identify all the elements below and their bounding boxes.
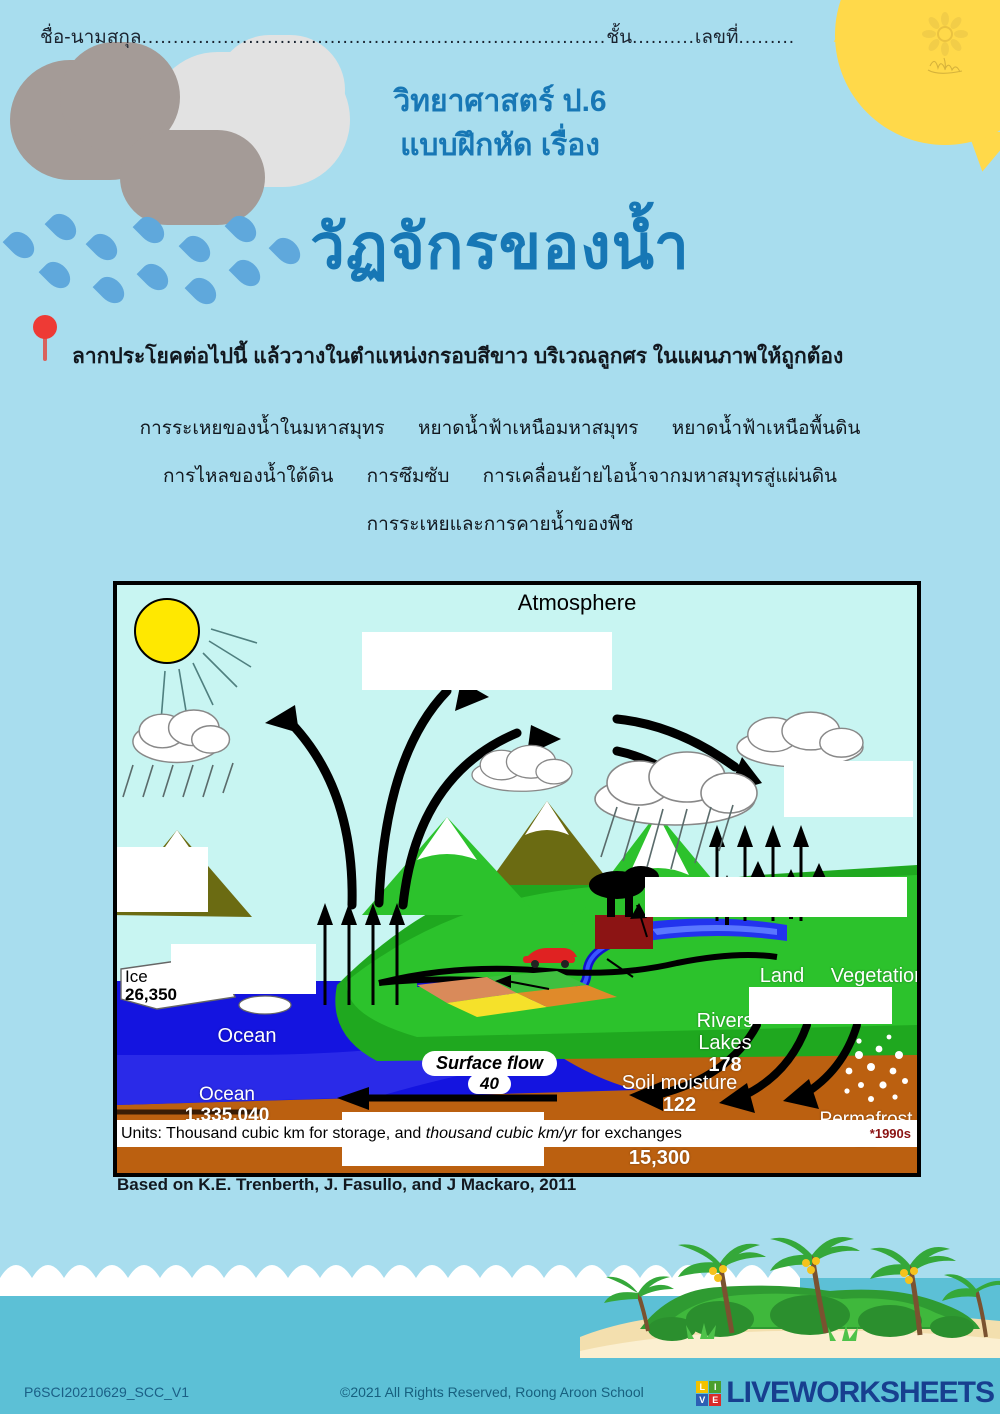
logo-tile-i: I (709, 1381, 721, 1393)
name-label: ชื่อ-นามสกุล (40, 27, 142, 48)
label-surface-flow: Surface flow 40 (422, 1051, 557, 1094)
answer-box-atmosphere-transport[interactable] (362, 632, 612, 690)
draggable-phrase[interactable]: การระเหยและการคายน้ำของพืช (367, 501, 634, 549)
water-cycle-diagram: Atmosphere Ice 26,350 Ocean Ocean 1,335,… (113, 581, 921, 1177)
student-name-line: ชื่อ-นามสกุล............................… (40, 22, 830, 52)
answer-box-evapotranspiration[interactable] (645, 877, 907, 917)
island-decoration (580, 1233, 1000, 1358)
draggable-phrase[interactable]: การเคลื่อนย้ายไอน้ำจากมหาสมุทรสู่แผ่นดิน (483, 453, 837, 501)
subtitle-block: วิทยาศาสตร์ ป.6 แบบฝึกหัด เรื่อง (0, 80, 1000, 167)
page-title: วัฏจักรของน้ำ (0, 198, 1000, 296)
draggable-phrase[interactable]: หยาดน้ำฟ้าเหนือพื้นดิน (672, 405, 861, 453)
draggable-phrase[interactable]: หยาดน้ำฟ้าเหนือมหาสมุทร (418, 405, 638, 453)
label-soil-moisture: Soil moisture 122 (572, 1072, 787, 1116)
answer-box-precip-ocean[interactable] (113, 847, 208, 912)
logo-tile-e: E (709, 1394, 721, 1406)
class-dots: .......... (632, 27, 695, 48)
diagram-source-credit: Based on K.E. Trenberth, J. Fasullo, and… (117, 1175, 576, 1195)
liveworksheets-wordmark: LIVEWORKSHEETS (726, 1378, 994, 1408)
label-ocean-top: Ocean (187, 1025, 307, 1047)
worksheet-page: ชื่อ-นามสกุล............................… (0, 0, 1000, 1414)
school-logo-icon (908, 8, 982, 84)
answer-box-precip-land[interactable] (784, 761, 913, 817)
logo-tile-l: L (696, 1381, 708, 1393)
number-label: เลขที่ (695, 27, 739, 48)
label-ice: Ice 26,350 (125, 968, 177, 1004)
atmosphere-label: Atmosphere (117, 590, 917, 616)
draggable-phrase[interactable]: การซึมซับ (367, 453, 450, 501)
answer-box-infiltration[interactable] (749, 987, 892, 1024)
footer-bar: P6SCI20210629_SCC_V1 ©2021 All Rights Re… (0, 1362, 1000, 1414)
diagram-units-note: Units: Thousand cubic km for storage, an… (117, 1120, 917, 1147)
pin-icon (33, 315, 59, 361)
sheet-type-title: แบบฝึกหัด เรื่อง (0, 124, 1000, 168)
answer-box-ocean-evaporation[interactable] (171, 944, 316, 994)
label-land: Land (737, 965, 827, 987)
units-footnote: *1990s (870, 1120, 911, 1147)
worksheet-code: P6SCI20210629_SCC_V1 (24, 1384, 189, 1400)
copyright-text: ©2021 All Rights Reserved, Roong Aroon S… (340, 1384, 644, 1400)
draggable-phrase-list: การระเหยของน้ำในมหาสมุทร หยาดน้ำฟ้าเหนือ… (60, 405, 940, 549)
logo-tile-v: V (696, 1394, 708, 1406)
subject-title: วิทยาศาสตร์ ป.6 (393, 85, 606, 118)
number-dots: ......... (739, 27, 796, 48)
instruction-text: ลากประโยคต่อไปนี้ แล้ววางในตำแหน่งกรอบสี… (72, 340, 960, 373)
name-dots: ........................................… (142, 27, 607, 48)
draggable-phrase[interactable]: การระเหยของน้ำในมหาสมุทร (140, 405, 385, 453)
class-label: ชั้น (606, 27, 632, 48)
liveworksheets-logo[interactable]: L I V E LIVEWORKSHEETS (696, 1378, 994, 1408)
draggable-phrase[interactable]: การไหลของน้ำใต้ดิน (163, 453, 333, 501)
